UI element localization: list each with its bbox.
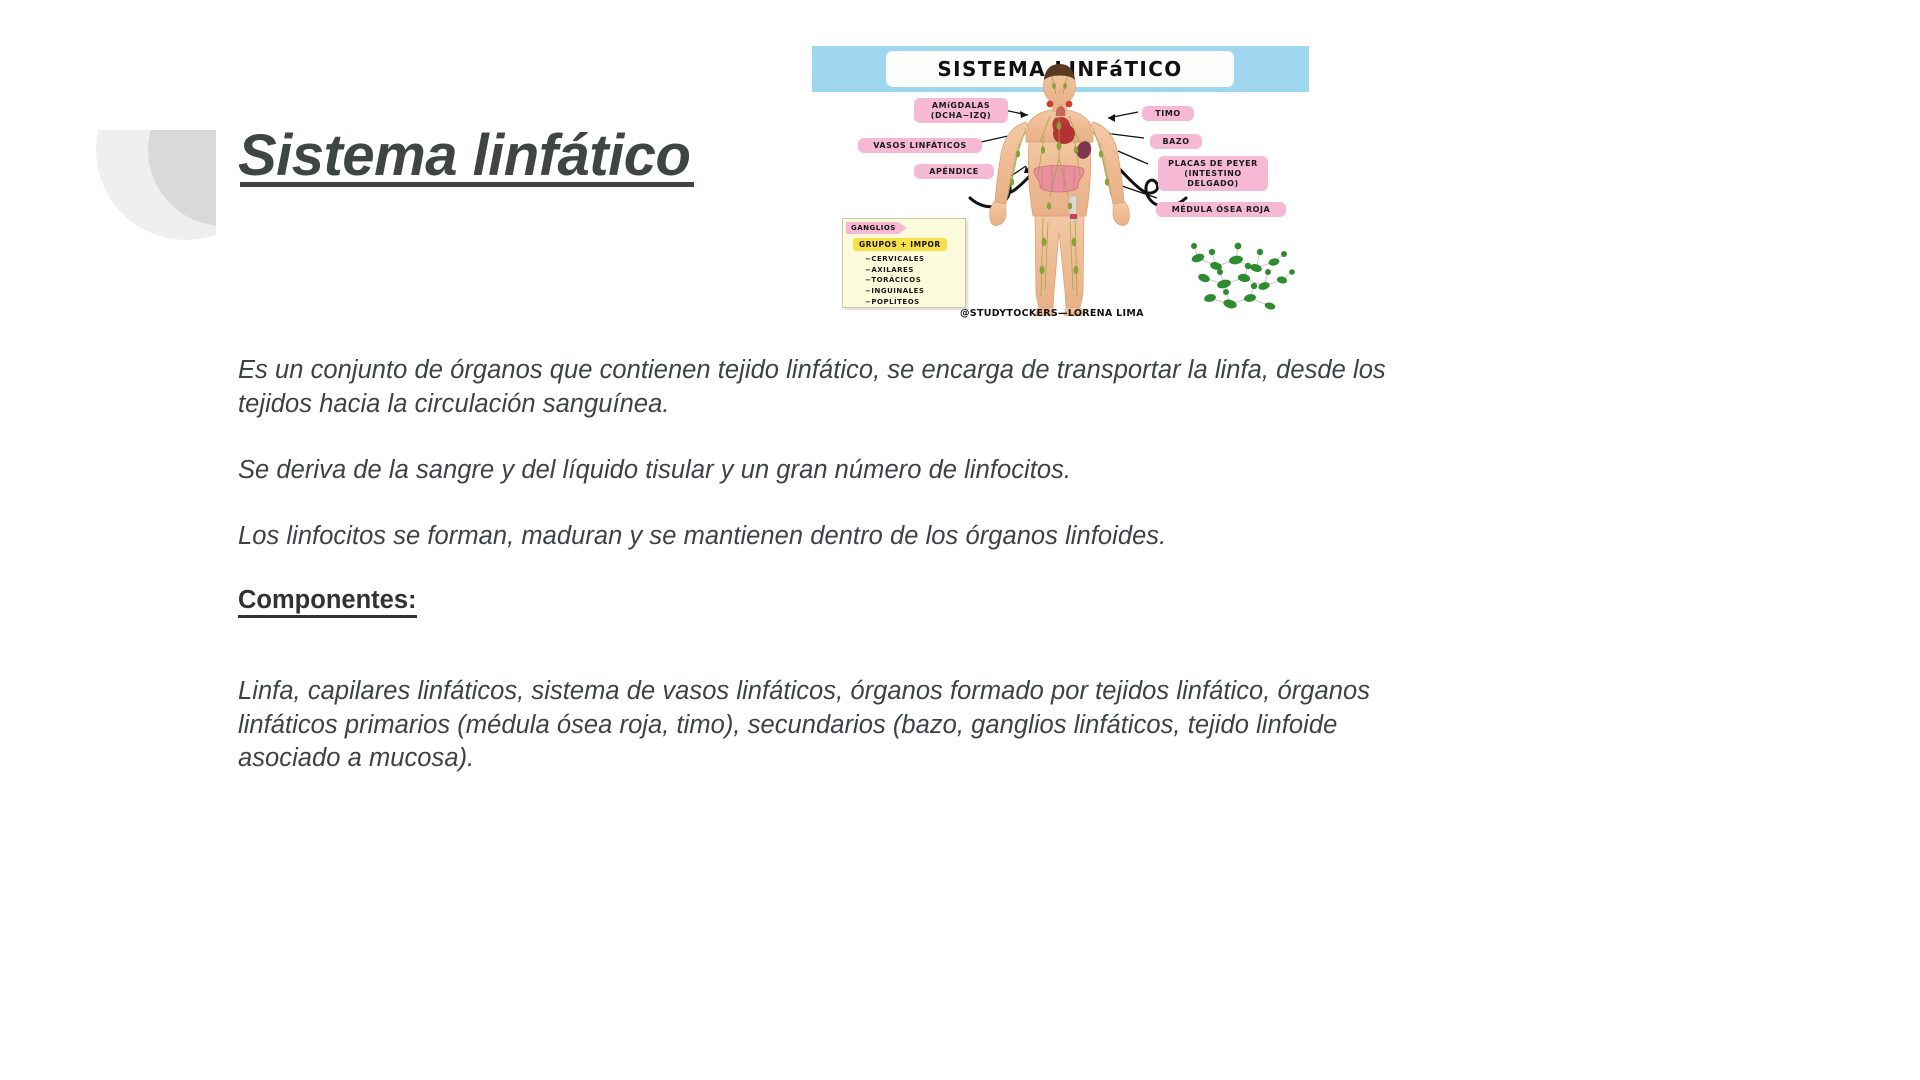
subheading-wrap: Componentes: — [238, 586, 1398, 645]
chip-medula-osea-roja: MÉDULA ÓSEA ROJA — [1156, 202, 1286, 217]
quarter-circle-decoration-icon — [96, 130, 216, 240]
sticky-note-subtitle: GRUPOS + IMPOR — [853, 238, 947, 251]
chip-vasos-linfaticos: VASOS LINFÁTICOS — [858, 138, 982, 153]
subheading-text: Componentes: — [238, 586, 417, 614]
chip-amigdalas: AMíGDALAS (DCHA−IZQ) — [914, 98, 1008, 123]
chip-placas-de-peyer: PLACAS DE PEYER (INTESTINO DELGADO) — [1158, 156, 1268, 191]
paragraph-lymphocytes: Los linfocitos se forman, maduran y se m… — [238, 520, 1398, 554]
paragraph-definition: Es un conjunto de órganos que contienen … — [238, 354, 1398, 422]
paragraph-origin: Se deriva de la sangre y del líquido tis… — [238, 454, 1398, 488]
list-item: −INGUINALES — [865, 286, 925, 297]
subheading-underline — [238, 615, 417, 618]
list-item: −POPLÍTEOS — [865, 297, 925, 308]
sticky-note-list: −CERVICALES −AXILARES −TORÁCICOS −INGUIN… — [865, 254, 925, 307]
infographic-canvas: SISTEMA LINFáTICO — [812, 46, 1312, 326]
chip-bazo: BAZO — [1150, 134, 1202, 149]
list-item: −TORÁCICOS — [865, 275, 925, 286]
page-title-text: Sistema linfático — [238, 123, 690, 188]
title-underline — [240, 182, 694, 187]
subheading-componentes: Componentes: — [238, 586, 417, 615]
body-content: Es un conjunto de órganos que contienen … — [238, 354, 1398, 776]
sticky-note-tag: GANGLIOS — [846, 222, 907, 234]
lymphatic-system-infographic: SISTEMA LINFáTICO — [812, 46, 1312, 326]
paragraph-components: Linfa, capilares linfáticos, sistema de … — [238, 675, 1398, 777]
infographic-credit: @STUDYTOCKERS—LORENA LIMA — [960, 308, 1144, 319]
slide-canvas: Sistema linfático SISTEMA LINFáTICO — [0, 0, 1920, 1080]
chip-apendice: APÉNDICE — [914, 164, 994, 179]
page-title: Sistema linfático — [238, 122, 690, 189]
list-item: −CERVICALES — [865, 254, 925, 265]
list-item: −AXILARES — [865, 265, 925, 276]
chip-timo: TIMO — [1142, 106, 1194, 121]
sticky-note-ganglios: GANGLIOS GRUPOS + IMPOR −CERVICALES −AXI… — [842, 218, 966, 308]
